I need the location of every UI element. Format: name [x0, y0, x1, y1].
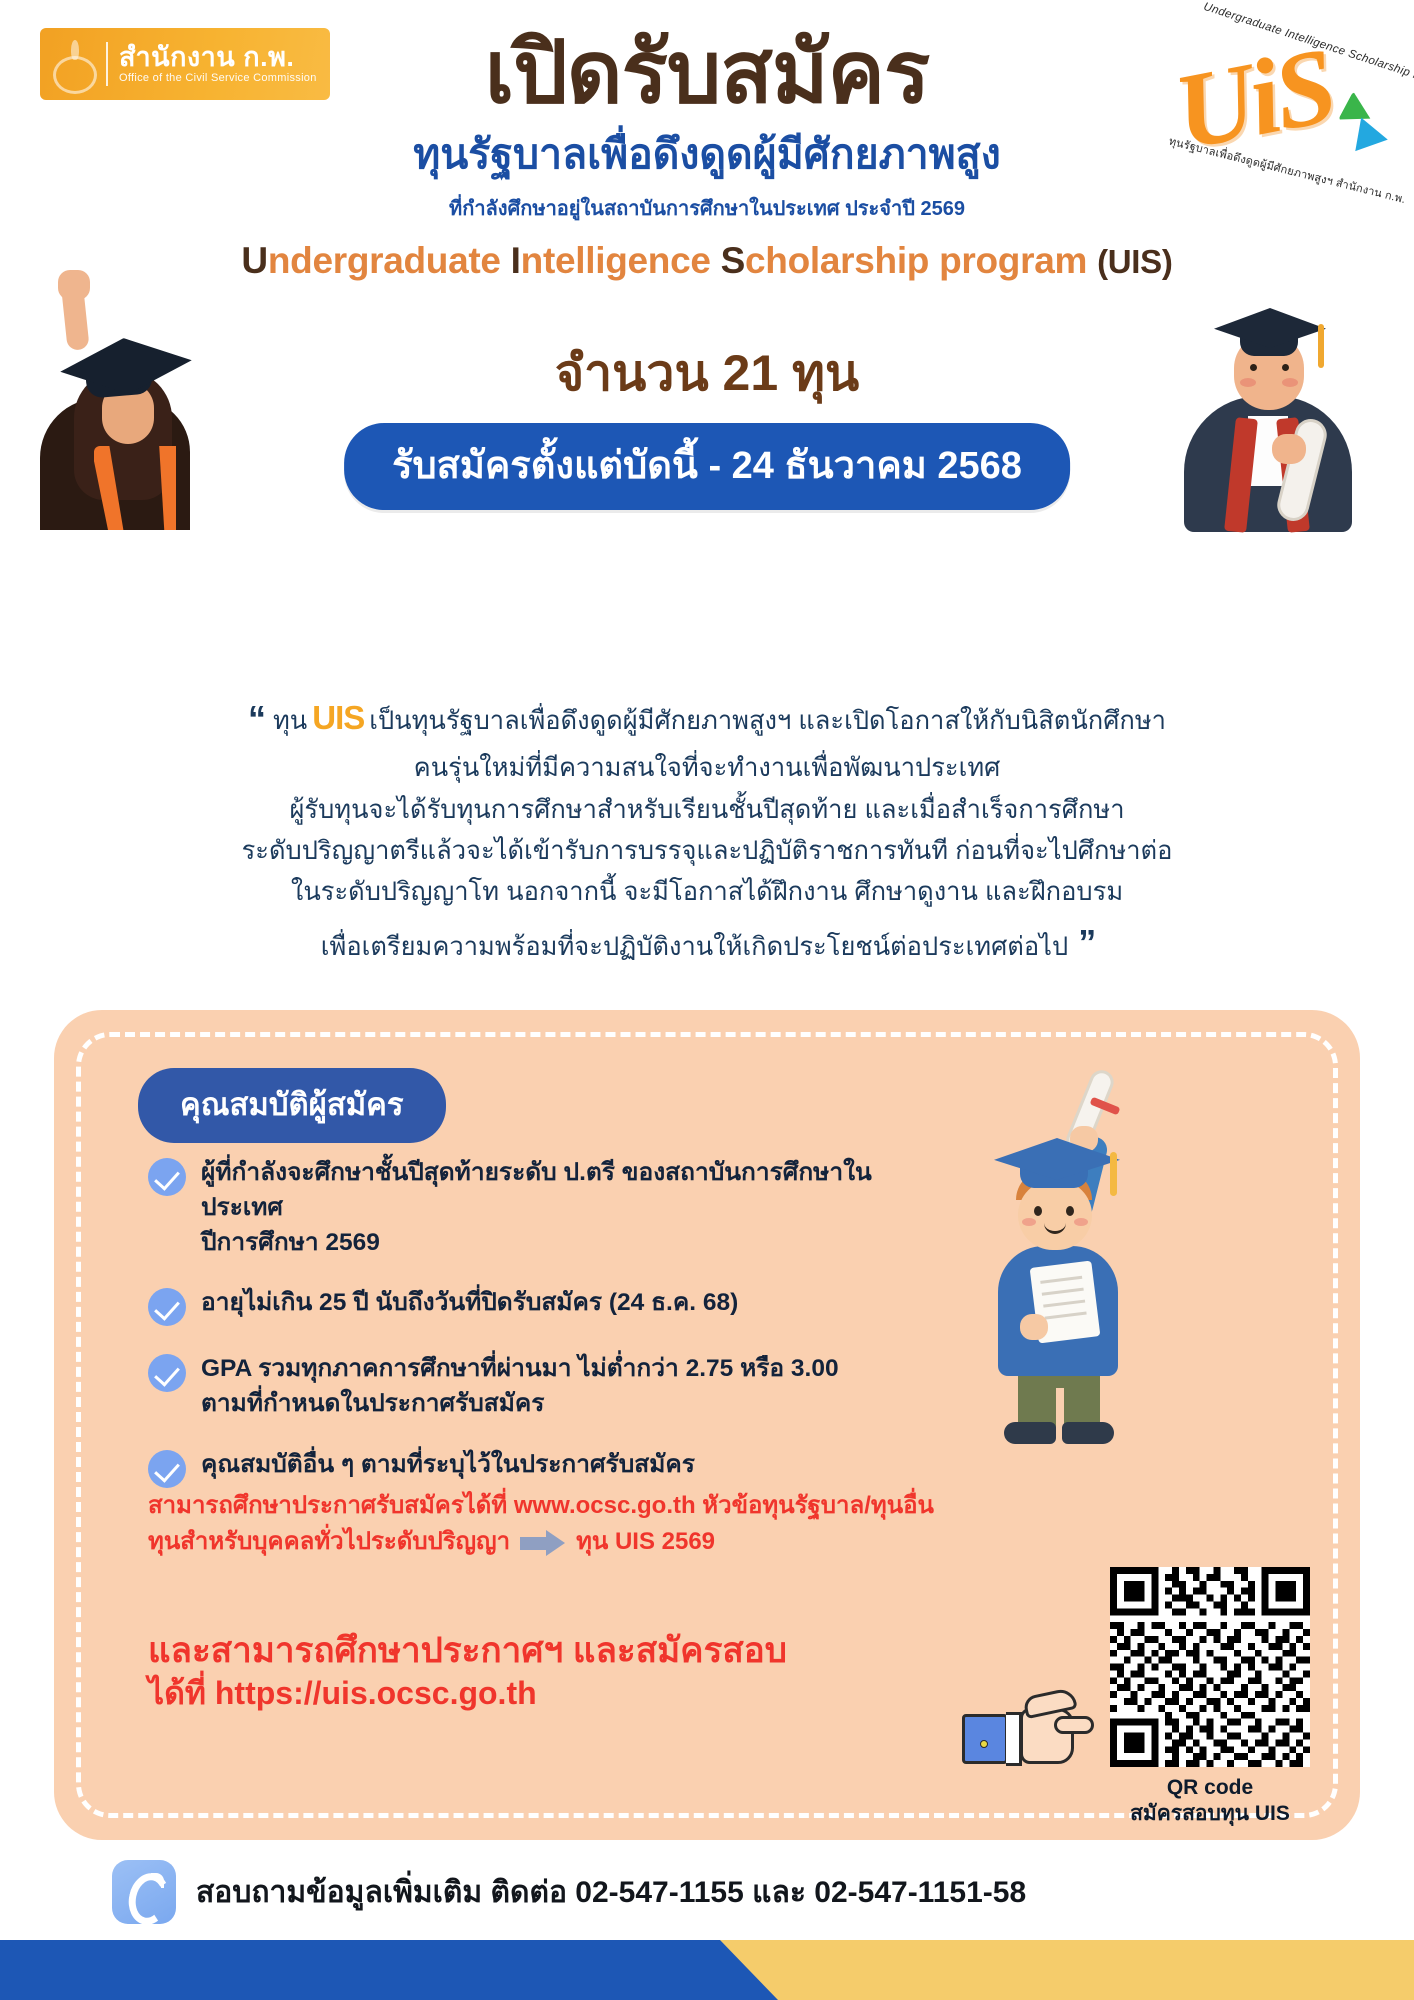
apply-line-2[interactable]: ได้ที่ https://uis.ocsc.go.th [148, 1673, 888, 1715]
cuff-button-shape [980, 1740, 988, 1748]
eye-right-shape [1066, 1206, 1074, 1216]
phone-call-icon [112, 1860, 176, 1924]
list-item-line1: คุณสมบัติอื่น ๆ ตามที่ระบุไว้ในประกาศรับ… [201, 1451, 695, 1478]
pointing-hand-icon [962, 1690, 1092, 1770]
qualifications-list: ผู้ที่กำลังจะศึกษาชั้นปีสุดท้ายระดับ ป.ต… [148, 1156, 948, 1514]
list-item-text: คุณสมบัติอื่น ๆ ตามที่ระบุไว้ในประกาศรับ… [201, 1448, 695, 1483]
graduate-left-illustration [30, 278, 220, 528]
shoe-right-shape [1062, 1422, 1114, 1444]
qr-caption-line1: QR code [1110, 1775, 1310, 1801]
contact-text: สอบถามข้อมูลเพิ่มเติม ติดต่อ 02-547-1155… [196, 1869, 1026, 1916]
eye-right-shape [1282, 364, 1289, 371]
apply-instructions: และสามารถศึกษาประกาศฯ และสมัครสอบ ได้ที่… [148, 1630, 888, 1714]
apply-line-1: และสามารถศึกษาประกาศฯ และสมัครสอบ [148, 1630, 888, 1673]
contact-bar: สอบถามข้อมูลเพิ่มเติม ติดต่อ 02-547-1155… [0, 1846, 1414, 1938]
cheek-right-shape [1282, 378, 1298, 387]
mortarboard-icon [1214, 308, 1326, 348]
check-circle-icon [148, 1354, 186, 1392]
qr-code-caption: QR code สมัครสอบทุน UIS [1110, 1775, 1310, 1826]
quote-close-icon: ” [1078, 922, 1093, 963]
qr-code-icon[interactable] [1110, 1567, 1310, 1767]
eng-title-cholarship-program: cholarship program [745, 240, 1087, 281]
tassel-shape [1318, 324, 1324, 368]
index-finger-shape [1054, 1716, 1094, 1734]
sleeve-cuff-shape [962, 1714, 1008, 1764]
eye-left-shape [1034, 1206, 1042, 1216]
face-shape [1018, 1180, 1092, 1250]
english-program-title: Undergraduate Intelligence Scholarship p… [0, 240, 1414, 282]
intro-quote-text: “ทุนUISเป็นทุนรัฐบาลเพื่อดึงดูดผู้มีศักย… [100, 690, 1314, 972]
check-circle-icon [148, 1288, 186, 1326]
cheek-left-shape [1022, 1218, 1036, 1226]
list-item-line2: ตามที่กำหนดในประกาศรับสมัคร [201, 1390, 544, 1417]
announcement-note-line2-before: ทุนสำหรับบุคคลทั่วไประดับปริญญา [148, 1528, 510, 1555]
qualifications-title: คุณสมบัติผู้สมัคร [138, 1068, 446, 1143]
list-item-line1: ผู้ที่กำลังจะศึกษาชั้นปีสุดท้ายระดับ ป.ต… [201, 1159, 872, 1221]
intro-quote-block: “ทุนUISเป็นทุนรัฐบาลเพื่อดึงดูดผู้มีศักย… [100, 690, 1314, 972]
cheek-left-shape [1240, 378, 1256, 387]
hand-shape [1272, 434, 1306, 464]
page-title: เปิดรับสมัคร [0, 28, 1414, 118]
hand-lower-shape [1020, 1314, 1048, 1340]
tassel-shape [1110, 1152, 1117, 1196]
application-period-badge: รับสมัครตั้งแต่บัดนี้ - 24 ธันวาคม 2568 [344, 423, 1070, 510]
cheek-right-shape [1074, 1218, 1088, 1226]
quote-uis-word: UIS [312, 699, 364, 736]
qr-caption-line2: สมัครสอบทุน UIS [1110, 1801, 1310, 1827]
eng-title-u: U [241, 240, 267, 281]
quote-line2: คนรุ่นใหม่ที่มีความสนใจที่จะทำงานเพื่อพั… [414, 754, 1001, 782]
quote-lead-word: ทุน [273, 707, 307, 735]
announcement-note: สามารถศึกษาประกาศรับสมัครได้ที่ www.ocsc… [148, 1488, 938, 1560]
announcement-note-line2-after: ทุน UIS 2569 [576, 1528, 715, 1555]
list-item-line1: GPA รวมทุกภาคการศึกษาที่ผ่านมา ไม่ต่ำกว่… [201, 1355, 839, 1382]
eng-title-s: S [721, 240, 745, 281]
eng-title-ndergraduate: ndergraduate [268, 240, 501, 281]
qr-code-block: QR code สมัครสอบทุน UIS [1110, 1567, 1310, 1826]
graduate-right-illustration [1176, 300, 1376, 530]
student-illustration [982, 1068, 1212, 1468]
list-item-line1: อายุไม่เกิน 25 ปี นับถึงวันที่ปิดรับสมัค… [201, 1289, 738, 1316]
poster-root: สำนักงาน ก.พ. Office of the Civil Servic… [0, 0, 1414, 2000]
eng-title-ntelligence: ntelligence [521, 240, 711, 281]
footer-stripe-blue [0, 1940, 720, 2000]
quote-line6: เพื่อเตรียมความพร้อมที่จะปฏิบัติงานให้เก… [321, 933, 1068, 961]
list-item: อายุไม่เกิน 25 ปี นับถึงวันที่ปิดรับสมัค… [148, 1286, 948, 1326]
quote-line4: ระดับปริญญาตรีแล้วจะได้เข้ารับการบรรจุแล… [242, 837, 1173, 865]
eng-title-i: I [511, 240, 521, 281]
eng-title-abbr: (UIS) [1097, 243, 1173, 280]
list-item: ผู้ที่กำลังจะศึกษาชั้นปีสุดท้ายระดับ ป.ต… [148, 1156, 948, 1260]
list-item-text: อายุไม่เกิน 25 ปี นับถึงวันที่ปิดรับสมัค… [201, 1286, 738, 1321]
quote-line3: ผู้รับทุนจะได้รับทุนการศึกษาสำหรับเรียนช… [289, 796, 1124, 824]
arrow-right-icon [520, 1533, 566, 1553]
check-circle-icon [148, 1158, 186, 1196]
list-item-text: GPA รวมทุกภาคการศึกษาที่ผ่านมา ไม่ต่ำกว่… [201, 1352, 839, 1422]
list-item-line2: ปีการศึกษา 2569 [201, 1229, 380, 1256]
list-item: คุณสมบัติอื่น ๆ ตามที่ระบุไว้ในประกาศรับ… [148, 1448, 948, 1488]
quote-line5: ในระดับปริญญาโท นอกจากนี้ จะมีโอกาสได้ฝึ… [291, 878, 1123, 906]
list-item-text: ผู้ที่กำลังจะศึกษาชั้นปีสุดท้ายระดับ ป.ต… [201, 1156, 948, 1260]
shoe-left-shape [1004, 1422, 1056, 1444]
page-subtitle: ทุนรัฐบาลเพื่อดึงดูดผู้มีศักยภาพสูง [0, 132, 1414, 177]
page-subtitle-secondary: ที่กำลังศึกษาอยู่ในสถาบันการศึกษาในประเท… [0, 192, 1414, 224]
list-item: GPA รวมทุกภาคการศึกษาที่ผ่านมา ไม่ต่ำกว่… [148, 1352, 948, 1422]
quote-open-icon: “ [248, 698, 263, 739]
eye-left-shape [1250, 364, 1257, 371]
announcement-note-line1: สามารถศึกษาประกาศรับสมัครได้ที่ www.ocsc… [148, 1492, 934, 1519]
quote-line1: เป็นทุนรัฐบาลเพื่อดึงดูดผู้มีศักยภาพสูงฯ… [369, 707, 1166, 735]
check-circle-icon [148, 1450, 186, 1488]
